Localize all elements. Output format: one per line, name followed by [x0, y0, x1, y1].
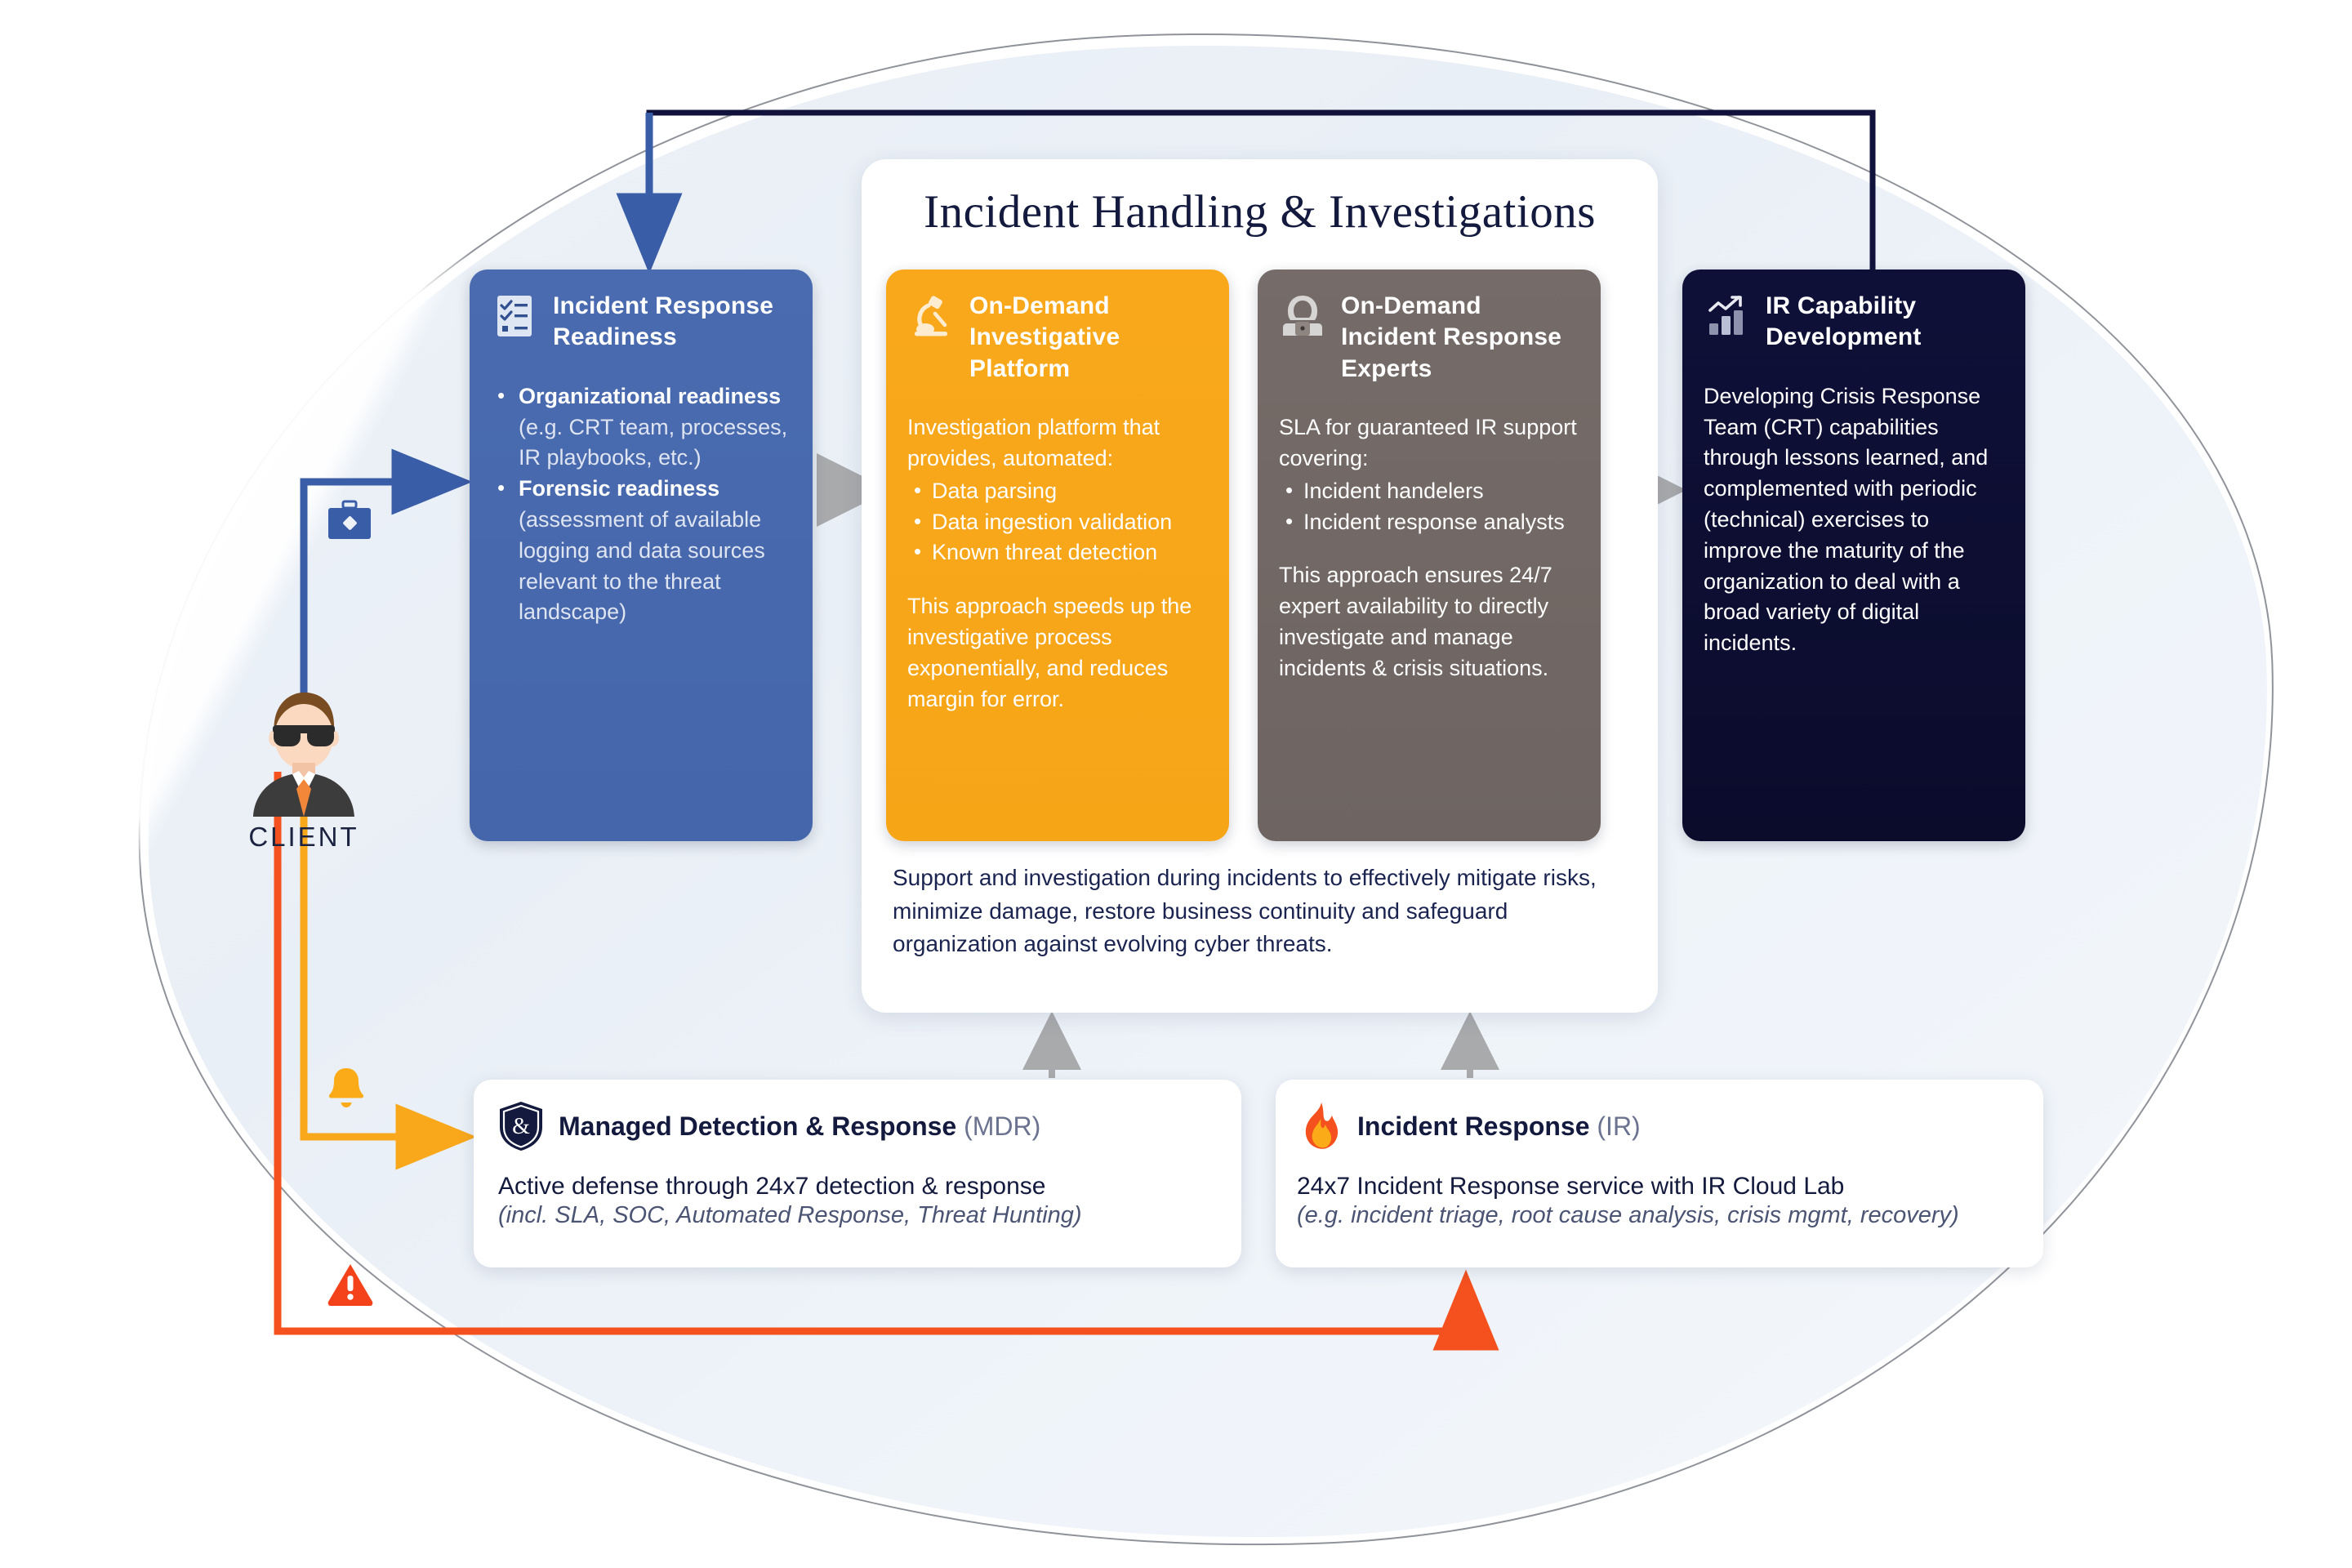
list-item: Incident response analysts [1279, 507, 1579, 538]
card-on-demand-incident-response-experts[interactable]: On-Demand Incident Response Experts SLA … [1258, 269, 1601, 841]
bullet-sub-text: (assessment of available logging and dat… [491, 505, 791, 628]
card-title-abbr: (IR) [1597, 1111, 1640, 1141]
card-title: Managed Detection & Response (MDR) [559, 1111, 1040, 1142]
card-paragraph: Developing Crisis Response Team (CRT) ca… [1704, 381, 2004, 659]
card-title: Incident Response Readiness [553, 291, 791, 354]
bell-icon [320, 1062, 372, 1118]
card-ir-capability-development[interactable]: IR Capability Development Developing Cri… [1682, 269, 2025, 841]
card-incident-response[interactable]: Incident Response (IR) 24x7 Incident Res… [1276, 1080, 2043, 1267]
flame-icon [1297, 1101, 1343, 1151]
card-body: Investigation platform that provides, au… [907, 412, 1208, 715]
list-item: Incident handelers [1279, 476, 1579, 507]
card-managed-detection-response[interactable]: & Managed Detection & Response (MDR) Act… [474, 1080, 1241, 1267]
card-body: Developing Crisis Response Team (CRT) ca… [1704, 381, 2004, 659]
checklist-clipboard-icon [491, 292, 538, 340]
svg-text:&: & [512, 1114, 530, 1139]
page-title: Incident Handling & Investigations [862, 185, 1658, 238]
card-body: SLA for guaranteed IR support covering: … [1279, 412, 1579, 684]
list-item: Known threat detection [907, 537, 1208, 568]
card-title: On-Demand Incident Response Experts [1341, 291, 1579, 385]
card-lead-text: Investigation platform that provides, au… [907, 412, 1208, 474]
card-line-primary: 24x7 Incident Response service with IR C… [1297, 1173, 2019, 1200]
card-title: IR Capability Development [1766, 291, 2004, 354]
list-item: Organizational readiness [491, 381, 791, 412]
list-item: Data parsing [907, 476, 1208, 507]
warning-triangle-icon [327, 1262, 374, 1310]
card-title-main: Managed Detection & Response [559, 1111, 964, 1141]
card-title: On-Demand Investigative Platform [969, 291, 1208, 385]
card-line-secondary: (e.g. incident triage, root cause analys… [1297, 1202, 2019, 1229]
card-title-main: Incident Response [1357, 1111, 1597, 1141]
card-paragraph: This approach ensures 24/7 expert availa… [1279, 560, 1579, 684]
client-actor: CLIENT [222, 678, 385, 853]
card-line-primary: Active defense through 24x7 detection & … [498, 1173, 1217, 1200]
bar-chart-growth-icon [1704, 292, 1751, 340]
card-on-demand-investigative-platform[interactable]: On-Demand Investigative Platform Investi… [886, 269, 1229, 841]
card-title-abbr: (MDR) [964, 1111, 1040, 1141]
list-item: Data ingestion validation [907, 507, 1208, 538]
card-lead-text: SLA for guaranteed IR support covering: [1279, 412, 1579, 474]
bullet-bold-text: Forensic readiness [519, 476, 719, 501]
business-person-emoji [238, 678, 369, 817]
diagram-canvas: CLIENT Incident Handling & Investigation… [0, 0, 2352, 1568]
bullet-sub-text: (e.g. CRT team, processes, IR playbooks,… [491, 412, 791, 474]
bullet-bold-text: Organizational readiness [519, 384, 781, 408]
client-label: CLIENT [222, 822, 385, 853]
card-line-secondary: (incl. SLA, SOC, Automated Response, Thr… [498, 1202, 1217, 1229]
container-footer-text: Support and investigation during inciden… [893, 862, 1627, 961]
shield-ampersand-icon: & [498, 1101, 544, 1151]
list-item: Forensic readiness [491, 474, 791, 505]
card-title: Incident Response (IR) [1357, 1111, 1641, 1142]
hooded-analyst-laptop-icon [1279, 292, 1326, 340]
card-paragraph: This approach speeds up the investigativ… [907, 591, 1208, 715]
card-incident-response-readiness[interactable]: Incident Response Readiness Organization… [470, 269, 813, 841]
toolbox-icon [325, 500, 374, 546]
microscope-icon [907, 292, 955, 340]
card-body: Organizational readiness (e.g. CRT team,… [491, 381, 791, 628]
